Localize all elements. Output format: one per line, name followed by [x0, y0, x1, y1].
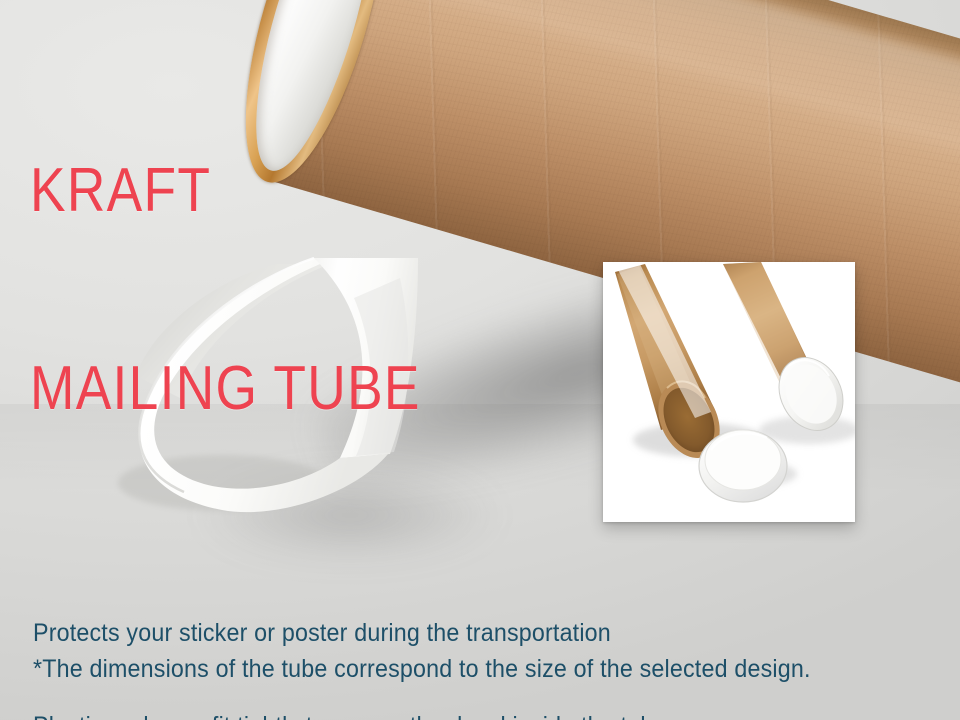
footnote-text: *The dimensions of the tube correspond t…	[33, 654, 811, 684]
feature-list: Protects your sticker or poster during t…	[33, 556, 667, 720]
feature-line-2: Plastic end caps fit tightly to secure t…	[33, 711, 667, 720]
page-title: KRAFT MAILING TUBE	[30, 26, 421, 554]
feature-line-1: Protects your sticker or poster during t…	[33, 618, 667, 649]
inset-photo-stage	[603, 262, 855, 522]
inset-loose-end-cap	[699, 430, 787, 502]
headline-line-1: KRAFT	[30, 158, 421, 224]
poster-canvas: KRAFT MAILING TUBE Protects your sticker…	[0, 0, 960, 720]
headline-line-2: MAILING TUBE	[30, 356, 421, 422]
inset-product-photo[interactable]	[603, 262, 855, 522]
